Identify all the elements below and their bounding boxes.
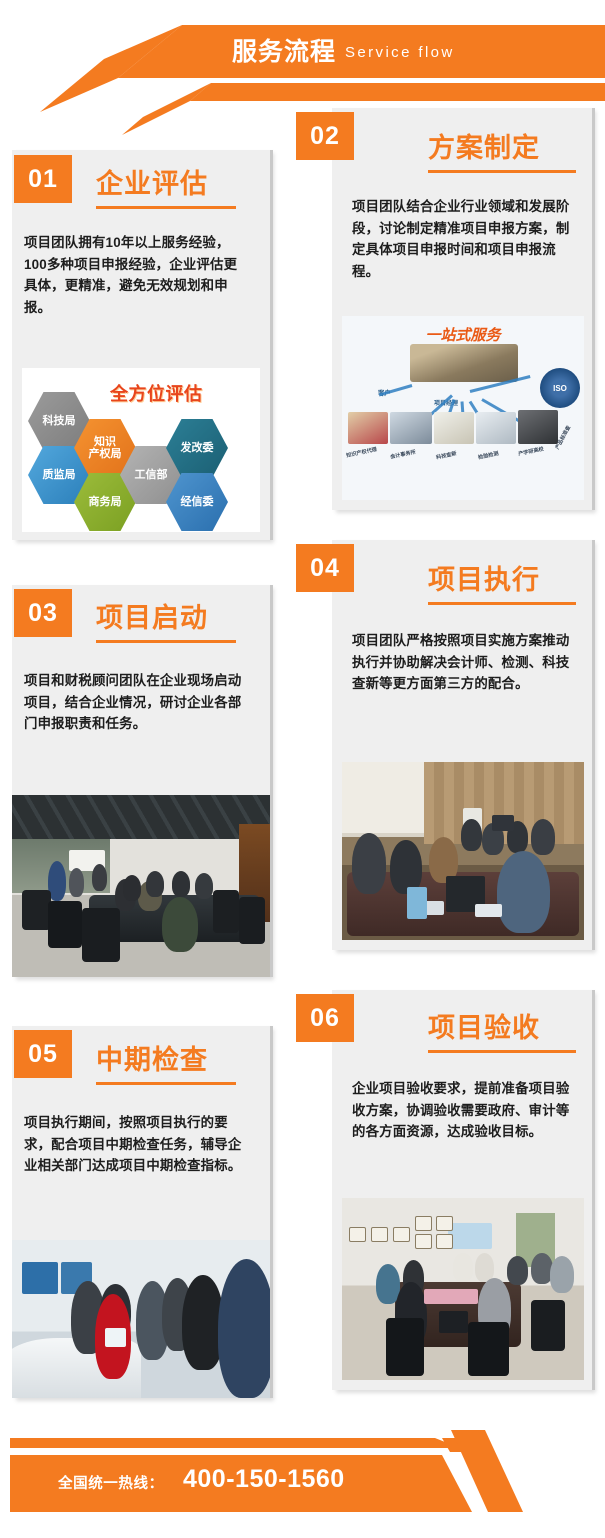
step-photo-05 [12, 1240, 270, 1398]
iso-seal-icon: ISO [540, 368, 580, 408]
step-photo-03 [12, 795, 270, 977]
step-title-05: 中期检查 [96, 1038, 236, 1085]
footer-banner-thin-tail [415, 1430, 605, 1452]
step-title-06: 项目验收 [428, 1006, 576, 1053]
step-number-badge-03: 03 [14, 589, 72, 637]
one-stop-node-testing [476, 412, 516, 444]
step-number-badge-05: 05 [14, 1030, 72, 1078]
photo-scene-acceptance-review [342, 1198, 584, 1380]
step-title-02: 方案制定 [428, 126, 576, 173]
page-header: 服务流程 Service flow [0, 0, 605, 112]
one-stop-service-title: 一站式服务 [425, 324, 500, 345]
photo-scene-site-visit [12, 1240, 270, 1398]
one-stop-bottom-label-0: 知识产权代理 [346, 446, 378, 459]
step-body-01: 项目团队拥有10年以上服务经验，100多种项目申报经验，企业评估更具体，更精准，… [24, 232, 246, 318]
one-stop-service-team-photo [410, 344, 518, 382]
step-number-badge-06: 06 [296, 994, 354, 1042]
step-number-badge-01: 01 [14, 155, 72, 203]
one-stop-node-search [434, 412, 474, 444]
step-number-badge-02: 02 [296, 112, 354, 160]
photo-scene-conference-room [12, 795, 270, 977]
step-title-03: 项目启动 [96, 596, 236, 643]
one-stop-service-diagram: 一站式服务 客户 项目经理 ISO 知识产权代理 会计事务所 科技查新 检验检测… [342, 316, 584, 500]
hexagon-diagram-title: 全方位评估 [110, 380, 203, 406]
step-body-02: 项目团队结合企业行业领域和发展阶段，讨论制定精准项目申报方案，制定具体项目申报时… [352, 196, 576, 282]
hotline-number[interactable]: 400-150-1560 [183, 1465, 345, 1494]
one-stop-bottom-label-2: 科技查新 [435, 450, 457, 461]
step-title-01: 企业评估 [96, 162, 236, 209]
step-number-badge-04: 04 [296, 544, 354, 592]
step-body-06: 企业项目验收要求，提前准备项目验收方案，协调验收需要政府、审计等的各方面资源，达… [352, 1078, 576, 1143]
hotline-label: 全国统一热线： [58, 1472, 164, 1493]
page-title: 服务流程 [232, 32, 336, 72]
one-stop-node-accounting [390, 412, 432, 444]
one-stop-bottom-label-3: 检验检测 [477, 450, 499, 461]
step-title-04: 项目执行 [428, 558, 576, 605]
step-body-05: 项目执行期间，按照项目执行的要求，配合项目中期检查任务，辅导企业相关部门达成项目… [24, 1112, 246, 1177]
one-stop-bottom-label-4: 产学研高校 [518, 445, 545, 457]
one-stop-node-university [518, 410, 558, 444]
photo-scene-working-meeting [342, 762, 584, 940]
page-subtitle: Service flow [345, 39, 455, 67]
step-body-04: 项目团队严格按照项目实施方案推动执行并协助解决会计师、检测、科技查新等更方面第三… [352, 630, 576, 695]
page-footer: 全国统一热线： 400-150-1560 [0, 1430, 605, 1538]
one-stop-bottom-label-1: 会计事务所 [390, 448, 417, 460]
step-photo-04 [342, 762, 584, 940]
footer-banner-thin [10, 1438, 605, 1448]
hexagon-diagram: 全方位评估 科技局 质监局 知识产权局 商务局 工信部 发改委 经信委 [22, 368, 260, 532]
one-stop-node-ip [348, 412, 388, 444]
step-photo-06 [342, 1198, 584, 1380]
step-body-03: 项目和财税顾问团队在企业现场启动项目，结合企业情况，研讨企业各部门申报职责和任务… [24, 670, 246, 735]
